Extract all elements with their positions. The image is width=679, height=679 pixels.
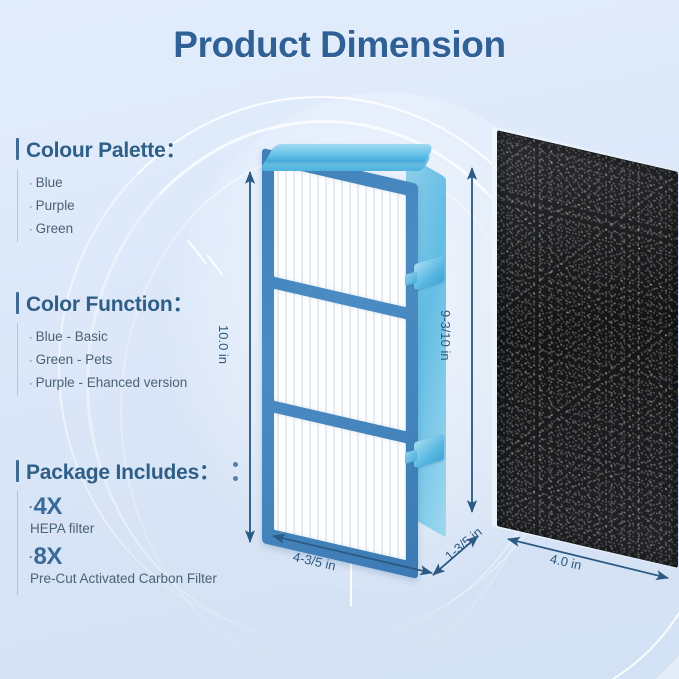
- bullet-glyph: ·: [29, 378, 33, 390]
- package-quantity: 8X: [34, 543, 62, 570]
- bullet-glyph: ·: [29, 332, 33, 344]
- list-item: ·Blue - Basic: [27, 325, 268, 348]
- list-item-label: Blue: [36, 175, 63, 190]
- section-heading-row: Colour Palette：: [16, 134, 268, 164]
- package-item: ·4X HEPA filter: [27, 493, 268, 543]
- list-item-label: Purple - Ehanced version: [36, 375, 188, 390]
- bullet-glyph: ·: [29, 178, 33, 190]
- list-item: ·Purple - Ehanced version: [27, 371, 268, 394]
- package-list: ·4X HEPA filter ·8X Pre-Cut Activated Ca…: [17, 491, 268, 595]
- heading-accent-bar: [16, 460, 19, 482]
- section-color-function: Color Function： ·Blue - Basic ·Green - P…: [16, 288, 268, 396]
- bullet-glyph: ·: [29, 500, 33, 514]
- package-quantity-row: ·8X: [29, 544, 268, 570]
- package-quantity: 4X: [34, 493, 62, 520]
- heading-accent-bar: [16, 138, 19, 160]
- bullet-glyph: ·: [29, 550, 33, 564]
- section-heading: Color Function：: [26, 288, 193, 318]
- package-item: ·8X Pre-Cut Activated Carbon Filter: [27, 543, 268, 593]
- color-function-list: ·Blue - Basic ·Green - Pets ·Purple - Eh…: [17, 323, 268, 396]
- heading-accent-bar: [16, 292, 19, 314]
- section-heading-row: Color Function：: [16, 288, 268, 318]
- package-description: HEPA filter: [29, 520, 268, 543]
- list-item-label: Green - Pets: [36, 352, 113, 367]
- list-item-label: Blue - Basic: [36, 329, 108, 344]
- package-quantity-row: ·4X: [29, 494, 268, 520]
- package-description: Pre-Cut Activated Carbon Filter: [29, 570, 268, 593]
- list-item: ·Purple: [27, 194, 268, 217]
- section-heading: Colour Palette：: [26, 134, 186, 164]
- section-package-includes: Package Includes： ·4X HEPA filter ·8X Pr…: [16, 456, 268, 595]
- section-heading: Package Includes：: [26, 456, 220, 486]
- bullet-glyph: ·: [29, 355, 33, 367]
- colour-palette-list: ·Blue ·Purple ·Green: [17, 169, 268, 242]
- list-item: ·Green: [27, 217, 268, 240]
- list-item-label: Green: [36, 221, 74, 236]
- bullet-glyph: ·: [29, 201, 33, 213]
- section-colour-palette: Colour Palette： ·Blue ·Purple ·Green: [16, 134, 268, 242]
- list-item: ·Green - Pets: [27, 348, 268, 371]
- list-item: ·Blue: [27, 171, 268, 194]
- section-heading-row: Package Includes：: [16, 456, 268, 486]
- bullet-glyph: ·: [29, 224, 33, 236]
- product-dimension-infographic: Product Dimension: [0, 0, 679, 679]
- list-item-label: Purple: [36, 198, 75, 213]
